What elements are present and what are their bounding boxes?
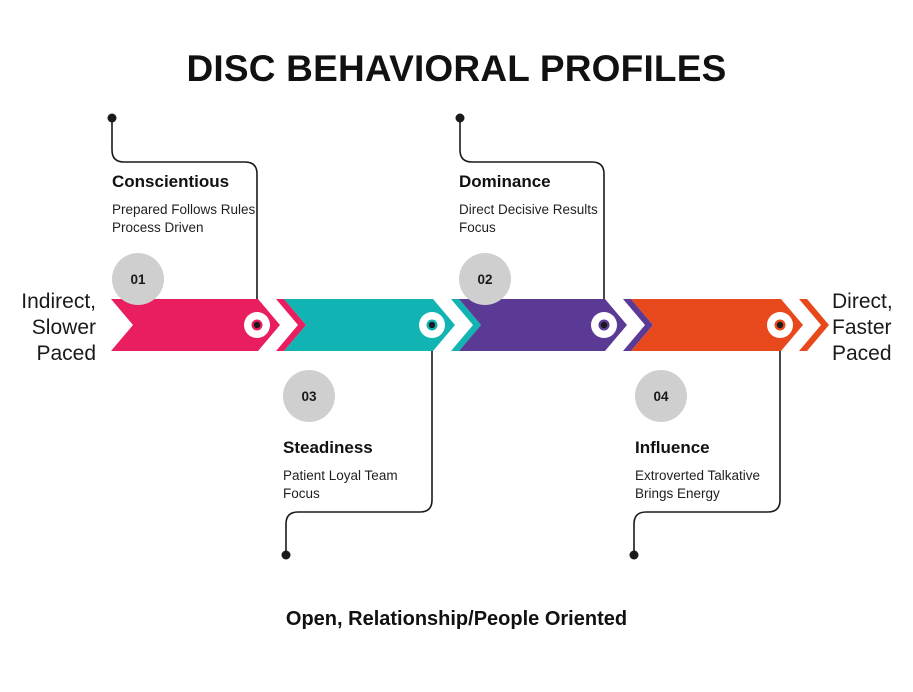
profile-name: Conscientious (112, 172, 322, 192)
disc-diagram: DISC BEHAVIORAL PROFILES Indirect, Slowe… (0, 0, 913, 692)
profile-description: Patient Loyal Team Focus (283, 467, 493, 503)
profile-callout-influence: 04 Influence Extroverted Talkative Bring… (635, 370, 845, 503)
band-node-01 (244, 312, 270, 338)
profile-description: Prepared Follows Rules Process Driven (112, 201, 322, 237)
profile-name: Steadiness (283, 438, 493, 458)
profile-callout-conscientious: Conscientious Prepared Follows Rules Pro… (112, 172, 322, 305)
arrow-band-layer (0, 0, 913, 692)
profile-badge: 04 (635, 370, 687, 422)
band-node-04 (767, 312, 793, 338)
band-chevron-end (799, 299, 829, 351)
band-node-02 (591, 312, 617, 338)
profile-badge: 03 (283, 370, 335, 422)
profile-name: Dominance (459, 172, 669, 192)
profile-callout-steadiness: 03 Steadiness Patient Loyal Team Focus (283, 370, 493, 503)
profile-name: Influence (635, 438, 845, 458)
bottom-caption: Open, Relationship/People Oriented (0, 608, 913, 631)
profile-description: Extroverted Talkative Brings Energy (635, 467, 845, 503)
profile-badge: 02 (459, 253, 511, 305)
profile-badge: 01 (112, 253, 164, 305)
band-node-03 (419, 312, 445, 338)
profile-callout-dominance: Dominance Direct Decisive Results Focus … (459, 172, 669, 305)
profile-description: Direct Decisive Results Focus (459, 201, 669, 237)
